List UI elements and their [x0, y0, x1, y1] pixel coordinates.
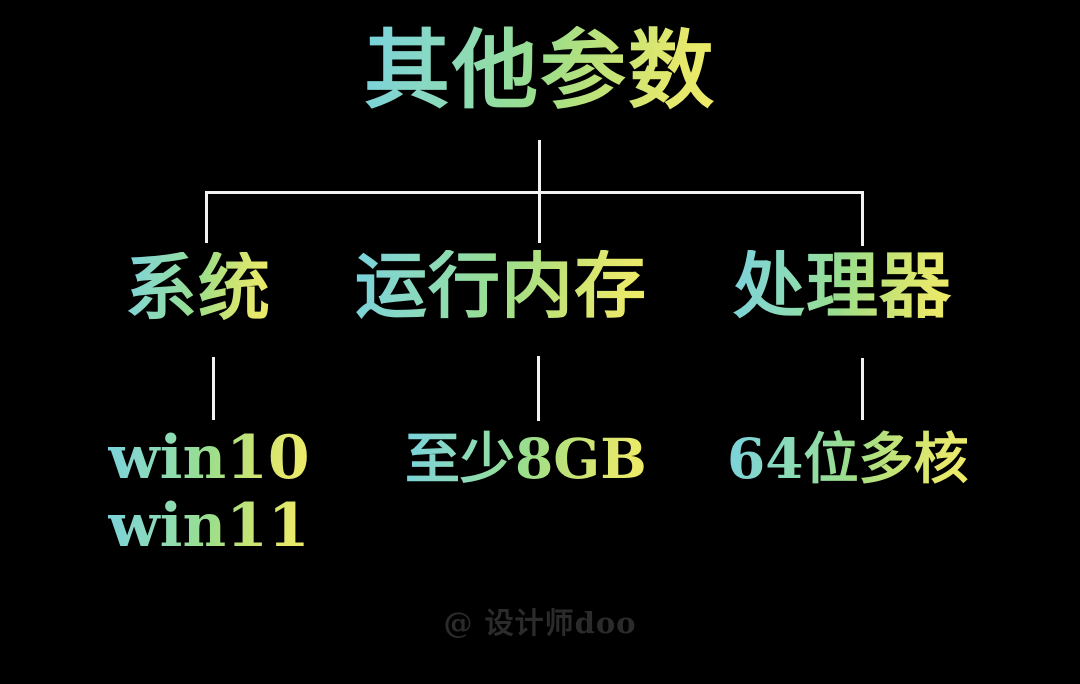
- connector-stem-processor: [861, 358, 864, 420]
- connector-stem-system: [212, 357, 215, 420]
- node-values-system: win10 win11: [108, 425, 310, 561]
- connector-drop-right: [861, 191, 864, 246]
- connector-stem-memory: [537, 356, 540, 421]
- infographic-canvas: 其他参数 系统 运行内存 处理器 win10 win11 至少8GB 64位多核…: [0, 0, 1080, 684]
- node-value-processor-arch: 64位多核: [727, 428, 969, 490]
- node-label-system: 系统: [125, 252, 271, 324]
- page-title: 其他参数: [364, 26, 716, 116]
- node-label-memory: 运行内存: [355, 250, 647, 322]
- node-values-memory: 至少8GB: [405, 428, 647, 490]
- connector-title-stem: [538, 140, 541, 196]
- connector-drop-left: [205, 191, 208, 243]
- page-title-container: 其他参数: [0, 26, 1080, 116]
- connector-horizontal-bus: [205, 191, 864, 194]
- connector-drop-center: [538, 191, 541, 243]
- node-label-processor: 处理器: [733, 250, 952, 322]
- node-value-memory-min: 至少8GB: [405, 428, 647, 490]
- watermark: @ 设计师doo: [0, 600, 1080, 642]
- node-values-processor: 64位多核: [727, 428, 969, 490]
- node-value-system-win11: win11: [108, 493, 310, 561]
- node-value-system-win10: win10: [108, 425, 310, 493]
